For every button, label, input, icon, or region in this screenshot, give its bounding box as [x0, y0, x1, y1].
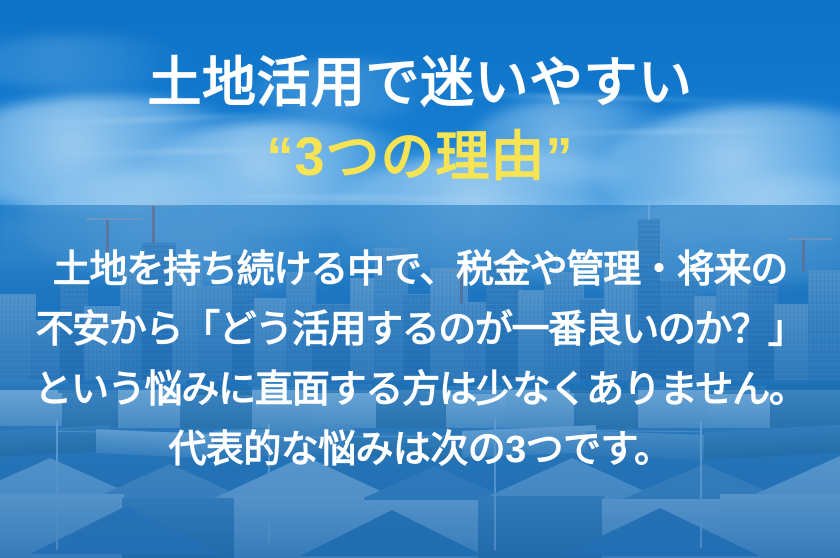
body-line: 代表的な悩みは次の3つです。 [20, 420, 820, 480]
hero-body-copy: 土地を持ち続ける中で、税金や管理・将来の 不安から「どう活用するのが一番良いのか… [20, 240, 820, 480]
hero-content: 土地活用で迷いやすい “3つの理由” 土地を持ち続ける中で、税金や管理・将来の … [0, 0, 840, 558]
hero-subtitle: “3つの理由” [266, 126, 573, 188]
hero-banner: 土地活用で迷いやすい “3つの理由” 土地を持ち続ける中で、税金や管理・将来の … [0, 0, 840, 558]
body-line: 土地を持ち続ける中で、税金や管理・将来の [20, 240, 820, 300]
body-line: 不安から「どう活用するのが一番良いのか？」 [20, 300, 820, 360]
body-line: という悩みに直面する方は少なくありません。 [20, 360, 820, 420]
page-title: 土地活用で迷いやすい [148, 52, 693, 114]
